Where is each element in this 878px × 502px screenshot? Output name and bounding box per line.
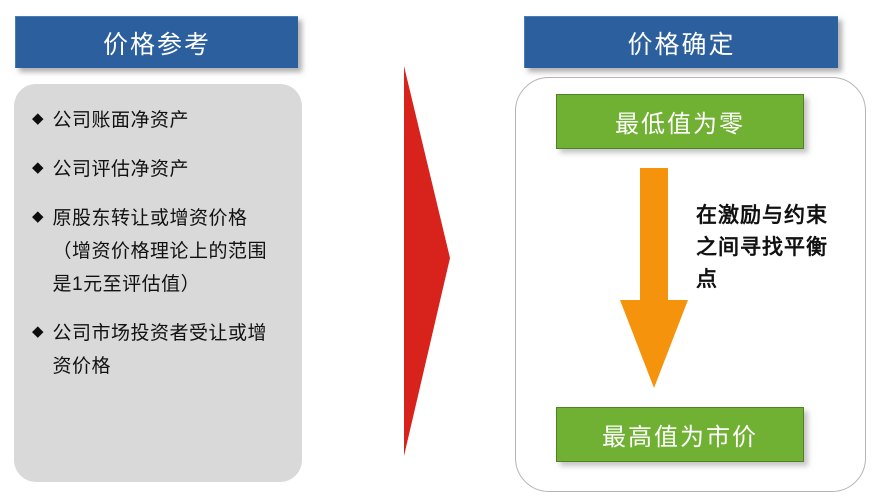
price-reference-panel: ◆ 公司账面净资产 ◆ 公司评估净资产 ◆ 原股东转让或增资价格（增资价格理论上…	[14, 84, 302, 482]
min-value-box: 最低值为零	[556, 94, 804, 149]
slide-canvas: 价格参考 ◆ 公司账面净资产 ◆ 公司评估净资产 ◆ 原股东转让或增资价格（增资…	[0, 0, 878, 502]
list-item: ◆ 原股东转让或增资价格（增资价格理论上的范围是1元至评估值）	[32, 202, 288, 301]
min-value-label: 最低值为零	[615, 104, 745, 139]
left-header-title: 价格参考	[103, 25, 211, 61]
list-item-label: 公司评估净资产	[53, 153, 190, 186]
list-item-label: 公司市场投资者受让或增资价格	[53, 317, 268, 383]
orange-down-arrow-icon	[618, 168, 690, 388]
diamond-bullet-icon: ◆	[32, 104, 44, 134]
list-item-label: 公司账面净资产	[53, 104, 190, 137]
list-item: ◆ 公司市场投资者受让或增资价格	[32, 317, 288, 383]
diamond-bullet-icon: ◆	[32, 153, 44, 183]
right-header-banner: 价格确定	[524, 16, 838, 68]
list-item: ◆ 公司评估净资产	[32, 153, 288, 186]
red-right-arrow-icon	[398, 66, 458, 456]
max-value-box: 最高值为市价	[556, 407, 804, 462]
left-header-banner: 价格参考	[15, 16, 298, 68]
diamond-bullet-icon: ◆	[32, 202, 44, 232]
list-item-label: 原股东转让或增资价格（增资价格理论上的范围是1元至评估值）	[53, 202, 268, 301]
list-item: ◆ 公司账面净资产	[32, 104, 288, 137]
balance-note-text: 在激励与约束之间寻找平衡点	[696, 200, 828, 296]
right-header-title: 价格确定	[627, 25, 735, 61]
diamond-bullet-icon: ◆	[32, 317, 44, 347]
max-value-label: 最高值为市价	[602, 417, 758, 452]
